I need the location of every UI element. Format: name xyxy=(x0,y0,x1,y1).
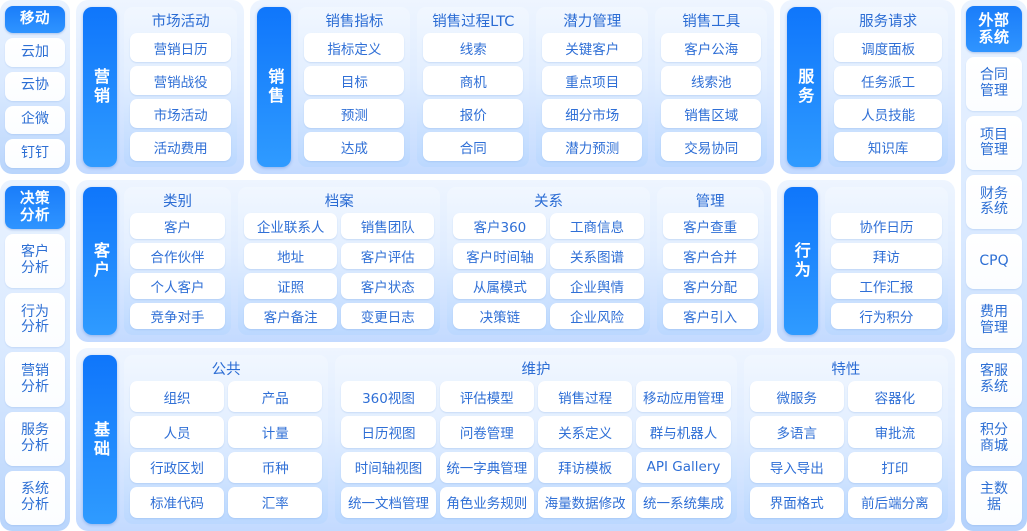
right-rail-external-systems: 外部系统合同管理项目管理财务系统CPQ费用管理客服系统积分商城主数据 xyxy=(961,0,1027,531)
external-systems-block-item-0[interactable]: 合同管理 xyxy=(966,57,1022,111)
capability-tile[interactable]: 企业风险 xyxy=(550,303,643,329)
domain-panel-营销: 营销市场活动营销日历营销战役市场活动活动费用 xyxy=(76,0,244,174)
tile-grid: 客户360工商信息客户时间轴关系图谱从属模式企业舆情决策链企业风险 xyxy=(453,213,643,329)
group-档案: 档案企业联系人销售团队地址客户评估证照客户状态客户备注变更日志 xyxy=(238,187,440,335)
decision-analysis-block-item-3[interactable]: 服务分析 xyxy=(5,412,65,466)
domain-panel-基础: 基础公共组织产品人员计量行政区划币种标准代码汇率维护360视图评估模型销售过程移… xyxy=(76,348,955,531)
capability-tile[interactable]: 目标 xyxy=(304,66,404,95)
capability-tile[interactable]: 客户 xyxy=(130,213,225,239)
capability-tile[interactable]: 统一文档管理 xyxy=(341,487,435,518)
group-管理: 管理客户查重客户合并客户分配客户引入 xyxy=(657,187,764,335)
external-systems-block-item-1[interactable]: 项目管理 xyxy=(966,116,1022,170)
capability-tile[interactable]: 细分市场 xyxy=(542,99,642,128)
capability-tile[interactable]: 营销战役 xyxy=(130,66,231,95)
decision-analysis-block-item-4[interactable]: 系统分析 xyxy=(5,471,65,525)
capability-tile[interactable]: 客户查重 xyxy=(663,213,758,239)
capability-tile[interactable]: 人员技能 xyxy=(834,99,942,128)
rail-item-label: 分析 xyxy=(21,439,49,455)
rail-head-line: 系统 xyxy=(978,29,1009,46)
rail-item-label: 云协 xyxy=(21,78,49,94)
capability-tile[interactable]: 地址 xyxy=(244,243,337,269)
group-title: 服务请求 xyxy=(834,12,942,33)
domain-panel-销售: 销售销售指标指标定义目标预测达成销售过程LTC线索商机报价合同潜力管理关键客户重… xyxy=(250,0,774,174)
crm-capability-map: 移动云加云协企微钉钉决策分析客户分析行为分析营销分析服务分析系统分析 营销市场活… xyxy=(0,0,1027,531)
capability-tile[interactable]: 客户备注 xyxy=(244,303,337,329)
capability-tile[interactable]: 客户时间轴 xyxy=(453,243,546,269)
capability-tile[interactable]: 组织 xyxy=(130,381,224,412)
rail-item-label: 积分 xyxy=(980,423,1008,439)
group-维护: 维护360视图评估模型销售过程移动应用管理日历视图问卷管理关系定义群与机器人时间… xyxy=(335,355,736,524)
rail-item-label: 系统 xyxy=(980,380,1008,396)
capability-tile[interactable]: 问卷管理 xyxy=(440,416,534,447)
group-container: 类别客户合作伙伴个人客户竞争对手档案企业联系人销售团队地址客户评估证照客户状态客… xyxy=(124,187,764,335)
group-title: 管理 xyxy=(663,192,758,213)
group-title: 维护 xyxy=(341,360,730,381)
capability-tile[interactable]: 企业联系人 xyxy=(244,213,337,239)
capability-tile[interactable]: 客户评估 xyxy=(341,243,434,269)
capability-tile[interactable]: 导入导出 xyxy=(750,452,844,483)
capability-row-2: 客户类别客户合作伙伴个人客户竞争对手档案企业联系人销售团队地址客户评估证照客户状… xyxy=(76,180,955,342)
mobile-block-header[interactable]: 移动 xyxy=(5,6,65,33)
rail-head-line: 决策 xyxy=(20,191,50,208)
capability-tile[interactable]: 交易协同 xyxy=(661,132,761,161)
rail-item-label: 营销 xyxy=(21,364,49,380)
rail-item-label: 据 xyxy=(987,498,1001,514)
group-title: 销售指标 xyxy=(304,12,404,33)
rail-item-label: 分析 xyxy=(21,320,49,336)
capability-tile[interactable]: 前后端分离 xyxy=(848,487,942,518)
group-title: 公共 xyxy=(130,360,322,381)
capability-tile[interactable]: 界面格式 xyxy=(750,487,844,518)
mobile-block-item-0[interactable]: 云加 xyxy=(5,38,65,67)
rail-item-label: 企微 xyxy=(21,112,49,128)
rail-item-label: 钉钉 xyxy=(21,146,49,162)
capability-tile[interactable]: 审批流 xyxy=(848,416,942,447)
capability-tile[interactable]: 营销日历 xyxy=(130,33,231,62)
group-title: 档案 xyxy=(244,192,434,213)
tile-grid: 微服务容器化多语言审批流导入导出打印界面格式前后端分离 xyxy=(750,381,942,518)
external-systems-block-item-5[interactable]: 客服系统 xyxy=(966,353,1022,407)
mobile-block-item-3[interactable]: 钉钉 xyxy=(5,139,65,168)
rail-item-label: 分析 xyxy=(21,498,49,514)
capability-tile[interactable]: 指标定义 xyxy=(304,33,404,62)
capability-tile[interactable]: 从属模式 xyxy=(453,273,546,299)
rail-head-line: 分析 xyxy=(20,208,50,225)
external-systems-block-item-6[interactable]: 积分商城 xyxy=(966,412,1022,466)
decision-analysis-block-item-0[interactable]: 客户分析 xyxy=(5,234,65,288)
capability-tile[interactable]: 统一字典管理 xyxy=(440,452,534,483)
capability-tile[interactable]: 标准代码 xyxy=(130,487,224,518)
mobile-block-item-2[interactable]: 企微 xyxy=(5,106,65,135)
capability-tile[interactable]: 销售区域 xyxy=(661,99,761,128)
capability-tile[interactable]: 证照 xyxy=(244,273,337,299)
capability-tile[interactable]: 合同 xyxy=(423,132,523,161)
capability-tile[interactable]: API Gallery xyxy=(636,452,730,483)
rail-item-label: CPQ xyxy=(979,254,1008,270)
capability-tile[interactable]: 行为积分 xyxy=(831,303,942,329)
capability-tile[interactable]: 销售过程 xyxy=(538,381,632,412)
capability-tile[interactable]: 工商信息 xyxy=(550,213,643,239)
capability-tile[interactable]: 线索 xyxy=(423,33,523,62)
rail-item-label: 系统 xyxy=(21,482,49,498)
group-container: 协作日历拜访工作汇报行为积分 xyxy=(825,187,948,335)
capability-tile[interactable]: 角色业务规则 xyxy=(440,487,534,518)
capability-tile[interactable]: 客户分配 xyxy=(663,273,758,299)
capability-tile[interactable]: 群与机器人 xyxy=(636,416,730,447)
group-title: 特性 xyxy=(750,360,942,381)
group-title: 销售工具 xyxy=(661,12,761,33)
tile-grid: 营销日历营销战役市场活动活动费用 xyxy=(130,33,231,161)
rail-item-label: 商城 xyxy=(980,439,1008,455)
rail-item-label: 管理 xyxy=(980,321,1008,337)
group-container: 市场活动营销日历营销战役市场活动活动费用 xyxy=(124,7,237,167)
center-columns: 营销市场活动营销日历营销战役市场活动活动费用销售销售指标指标定义目标预测达成销售… xyxy=(76,0,955,531)
group-title: 关系 xyxy=(453,192,643,213)
external-systems-block-header[interactable]: 外部系统 xyxy=(966,6,1022,52)
capability-tile[interactable]: 个人客户 xyxy=(130,273,225,299)
capability-tile[interactable]: 报价 xyxy=(423,99,523,128)
decision-analysis-block-header[interactable]: 决策分析 xyxy=(5,186,65,229)
decision-analysis-block-item-2[interactable]: 营销分析 xyxy=(5,352,65,406)
rail-head-line: 外部 xyxy=(978,12,1009,29)
external-systems-block-item-3[interactable]: CPQ xyxy=(966,234,1022,288)
domain-panel-行为: 行为协作日历拜访工作汇报行为积分 xyxy=(777,180,955,342)
rail-item-label: 客服 xyxy=(980,364,1008,380)
capability-tile[interactable]: 商机 xyxy=(423,66,523,95)
rail-item-label: 行为 xyxy=(21,305,49,321)
tile-grid: 企业联系人销售团队地址客户评估证照客户状态客户备注变更日志 xyxy=(244,213,434,329)
group-title: 市场活动 xyxy=(130,12,231,33)
domain-tab-客户[interactable]: 客户 xyxy=(83,187,117,335)
capability-tile[interactable]: 活动费用 xyxy=(130,132,231,161)
capability-tile[interactable]: 统一系统集成 xyxy=(636,487,730,518)
domain-tab-基础[interactable]: 基础 xyxy=(83,355,117,524)
rail-item-label: 客户 xyxy=(21,245,49,261)
capability-tile[interactable]: 销售团队 xyxy=(341,213,434,239)
rail-item-label: 管理 xyxy=(980,84,1008,100)
tile-grid: 调度面板任务派工人员技能知识库 xyxy=(834,33,942,161)
rail-item-label: 分析 xyxy=(21,261,49,277)
tile-grid: 线索商机报价合同 xyxy=(423,33,523,161)
capability-tile[interactable]: 行政区划 xyxy=(130,452,224,483)
capability-tile[interactable]: 客户状态 xyxy=(341,273,434,299)
group-类别: 类别客户合作伙伴个人客户竞争对手 xyxy=(124,187,231,335)
capability-tile[interactable]: 关键客户 xyxy=(542,33,642,62)
capability-tile[interactable]: 多语言 xyxy=(750,416,844,447)
capability-tile[interactable]: 协作日历 xyxy=(831,213,942,239)
capability-tile[interactable]: 日历视图 xyxy=(341,416,435,447)
tile-grid: 组织产品人员计量行政区划币种标准代码汇率 xyxy=(130,381,322,518)
capability-tile[interactable]: 评估模型 xyxy=(440,381,534,412)
capability-tile[interactable]: 任务派工 xyxy=(834,66,942,95)
group-title: 销售过程LTC xyxy=(423,12,523,33)
capability-tile[interactable]: 客户公海 xyxy=(661,33,761,62)
tile-grid: 关键客户重点项目细分市场潜力预测 xyxy=(542,33,642,161)
group-销售工具: 销售工具客户公海线索池销售区域交易协同 xyxy=(655,7,767,167)
capability-tile[interactable]: 客户360 xyxy=(453,213,546,239)
capability-tile[interactable]: 人员 xyxy=(130,416,224,447)
tile-grid: 客户查重客户合并客户分配客户引入 xyxy=(663,213,758,329)
capability-tile[interactable]: 知识库 xyxy=(834,132,942,161)
rail-item-label: 服务 xyxy=(21,423,49,439)
group-title: 潜力管理 xyxy=(542,12,642,33)
capability-tile[interactable]: 关系定义 xyxy=(538,416,632,447)
group-市场活动: 市场活动营销日历营销战役市场活动活动费用 xyxy=(124,7,237,167)
capability-tile[interactable]: 海量数据修改 xyxy=(538,487,632,518)
capability-tile[interactable]: 变更日志 xyxy=(341,303,434,329)
domain-panel-客户: 客户类别客户合作伙伴个人客户竞争对手档案企业联系人销售团队地址客户评估证照客户状… xyxy=(76,180,771,342)
group-关系: 关系客户360工商信息客户时间轴关系图谱从属模式企业舆情决策链企业风险 xyxy=(447,187,649,335)
tile-grid: 360视图评估模型销售过程移动应用管理日历视图问卷管理关系定义群与机器人时间轴视… xyxy=(341,381,730,518)
domain-tab-营销[interactable]: 营销 xyxy=(83,7,117,167)
external-systems-block-item-2[interactable]: 财务系统 xyxy=(966,175,1022,229)
group-公共: 公共组织产品人员计量行政区划币种标准代码汇率 xyxy=(124,355,328,524)
rail-item-label: 主数 xyxy=(980,482,1008,498)
capability-row-3: 基础公共组织产品人员计量行政区划币种标准代码汇率维护360视图评估模型销售过程移… xyxy=(76,348,955,531)
capability-tile[interactable]: 调度面板 xyxy=(834,33,942,62)
capability-tile[interactable]: 客户引入 xyxy=(663,303,758,329)
tile-grid: 客户合作伙伴个人客户竞争对手 xyxy=(130,213,225,329)
capability-tile[interactable]: 预测 xyxy=(304,99,404,128)
capability-tile[interactable]: 关系图谱 xyxy=(550,243,643,269)
external-systems-block-item-7[interactable]: 主数据 xyxy=(966,471,1022,525)
group-title: 类别 xyxy=(130,192,225,213)
tile-grid: 协作日历拜访工作汇报行为积分 xyxy=(831,213,942,329)
rail-item-label: 财务 xyxy=(980,187,1008,203)
capability-tile[interactable]: 微服务 xyxy=(750,381,844,412)
group-untitled: 协作日历拜访工作汇报行为积分 xyxy=(825,187,948,335)
group-container: 服务请求调度面板任务派工人员技能知识库 xyxy=(828,7,948,167)
domain-panel-服务: 服务服务请求调度面板任务派工人员技能知识库 xyxy=(780,0,955,174)
group-container: 销售指标指标定义目标预测达成销售过程LTC线索商机报价合同潜力管理关键客户重点项… xyxy=(298,7,767,167)
rail-item-label: 分析 xyxy=(21,380,49,396)
mobile-block: 移动云加云协企微钉钉 xyxy=(0,0,70,174)
capability-tile[interactable]: 决策链 xyxy=(453,303,546,329)
capability-tile[interactable]: 币种 xyxy=(228,452,322,483)
capability-tile[interactable]: 时间轴视图 xyxy=(341,452,435,483)
tile-grid: 客户公海线索池销售区域交易协同 xyxy=(661,33,761,161)
group-销售过程LTC: 销售过程LTC线索商机报价合同 xyxy=(417,7,529,167)
left-rail: 移动云加云协企微钉钉决策分析客户分析行为分析营销分析服务分析系统分析 xyxy=(0,0,70,531)
capability-tile[interactable]: 计量 xyxy=(228,416,322,447)
rail-item-label: 系统 xyxy=(980,202,1008,218)
rail-item-label: 项目 xyxy=(980,128,1008,144)
domain-tab-服务[interactable]: 服务 xyxy=(787,7,821,167)
rail-head-line: 移动 xyxy=(20,11,50,28)
capability-tile[interactable]: 潜力预测 xyxy=(542,132,642,161)
capability-tile[interactable]: 竞争对手 xyxy=(130,303,225,329)
capability-tile[interactable]: 合作伙伴 xyxy=(130,243,225,269)
domain-tab-行为[interactable]: 行为 xyxy=(784,187,818,335)
capability-tile[interactable]: 打印 xyxy=(848,452,942,483)
capability-tile[interactable]: 拜访 xyxy=(831,243,942,269)
capability-tile[interactable]: 客户合并 xyxy=(663,243,758,269)
capability-tile[interactable]: 容器化 xyxy=(848,381,942,412)
decision-analysis-block: 决策分析客户分析行为分析营销分析服务分析系统分析 xyxy=(0,180,70,531)
capability-tile[interactable]: 拜访模板 xyxy=(538,452,632,483)
capability-tile[interactable]: 企业舆情 xyxy=(550,273,643,299)
capability-tile[interactable]: 汇率 xyxy=(228,487,322,518)
tile-grid: 指标定义目标预测达成 xyxy=(304,33,404,161)
capability-tile[interactable]: 市场活动 xyxy=(130,99,231,128)
rail-item-label: 管理 xyxy=(980,143,1008,159)
domain-tab-销售[interactable]: 销售 xyxy=(257,7,291,167)
capability-tile[interactable]: 工作汇报 xyxy=(831,273,942,299)
group-特性: 特性微服务容器化多语言审批流导入导出打印界面格式前后端分离 xyxy=(744,355,948,524)
group-潜力管理: 潜力管理关键客户重点项目细分市场潜力预测 xyxy=(536,7,648,167)
capability-tile[interactable]: 线索池 xyxy=(661,66,761,95)
rail-item-label: 费用 xyxy=(980,305,1008,321)
decision-analysis-block-item-1[interactable]: 行为分析 xyxy=(5,293,65,347)
capability-row-1: 营销市场活动营销日历营销战役市场活动活动费用销售销售指标指标定义目标预测达成销售… xyxy=(76,0,955,174)
capability-tile[interactable]: 360视图 xyxy=(341,381,435,412)
capability-tile[interactable]: 产品 xyxy=(228,381,322,412)
capability-tile[interactable]: 重点项目 xyxy=(542,66,642,95)
group-container: 公共组织产品人员计量行政区划币种标准代码汇率维护360视图评估模型销售过程移动应… xyxy=(124,355,948,524)
rail-item-label: 合同 xyxy=(980,68,1008,84)
group-销售指标: 销售指标指标定义目标预测达成 xyxy=(298,7,410,167)
external-systems-block-item-4[interactable]: 费用管理 xyxy=(966,294,1022,348)
mobile-block-item-1[interactable]: 云协 xyxy=(5,72,65,101)
rail-item-label: 云加 xyxy=(21,45,49,61)
capability-tile[interactable]: 移动应用管理 xyxy=(636,381,730,412)
capability-tile[interactable]: 达成 xyxy=(304,132,404,161)
group-服务请求: 服务请求调度面板任务派工人员技能知识库 xyxy=(828,7,948,167)
